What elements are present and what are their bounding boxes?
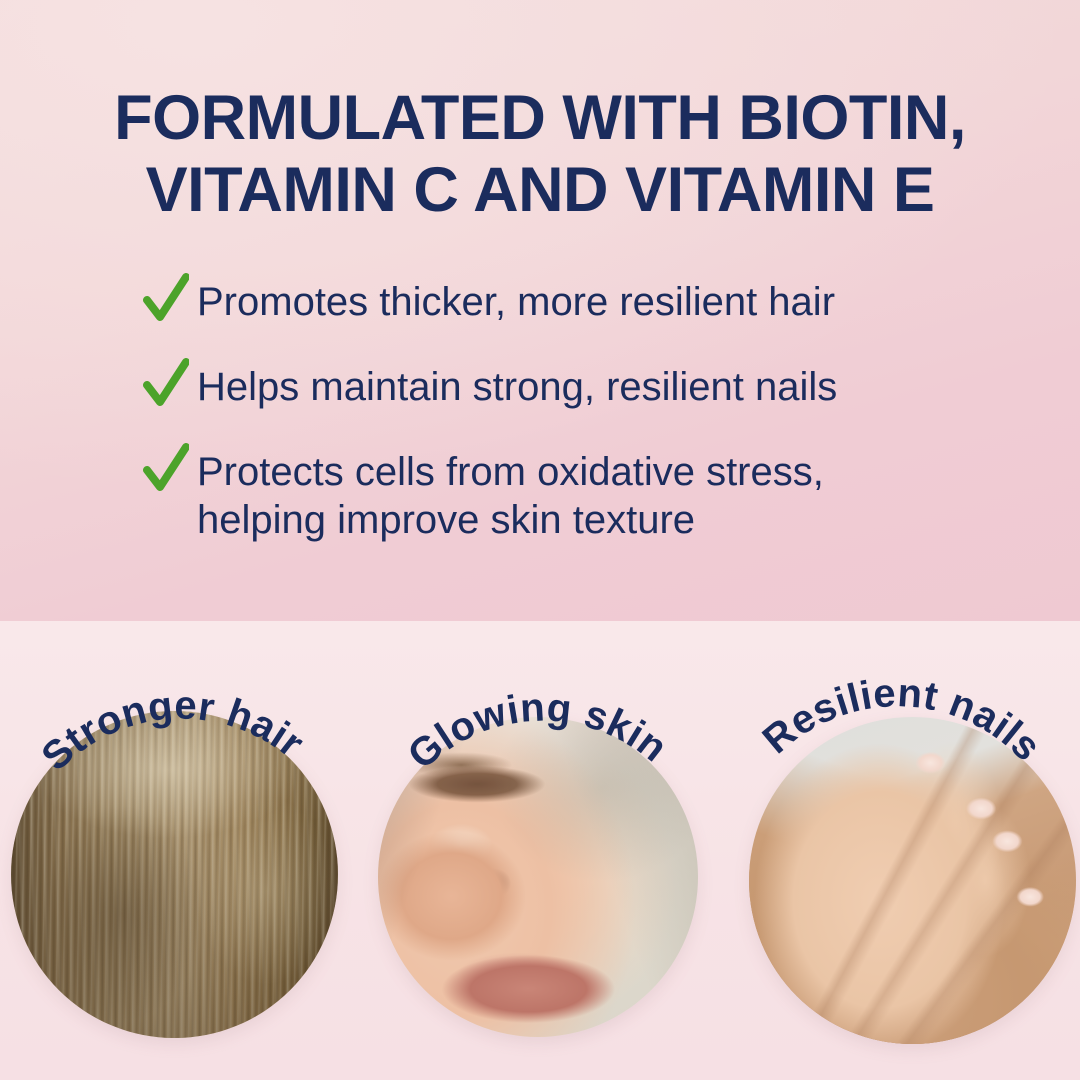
blonde-hair-closeup-photo	[11, 711, 338, 1038]
face-closeup-photo	[378, 717, 698, 1037]
list-item-label: Helps maintain strong, resilient nails	[197, 362, 837, 411]
list-item: Helps maintain strong, resilient nails	[143, 362, 1003, 411]
benefit-card-nails: Resilient nails	[720, 621, 1080, 1080]
list-item-label: Promotes thicker, more resilient hair	[197, 277, 835, 326]
hand-nails-closeup-photo	[749, 717, 1076, 1044]
benefit-card-hair: Stronger hair	[0, 621, 360, 1080]
benefit-photos-panel: Stronger hair Glowing skin	[0, 621, 1080, 1080]
list-item: Promotes thicker, more resilient hair	[143, 277, 1003, 326]
infographic-page: FORMULATED WITH BIOTIN, VITAMIN C AND VI…	[0, 0, 1080, 1080]
list-item: Protects cells from oxidative stress, he…	[143, 447, 1003, 543]
benefit-card-skin: Glowing skin	[360, 621, 720, 1080]
benefit-bullet-list: Promotes thicker, more resilient hair He…	[143, 277, 1003, 544]
list-item-label: Protects cells from oxidative stress, he…	[197, 447, 824, 543]
green-check-icon	[143, 358, 189, 410]
page-headline: FORMULATED WITH BIOTIN, VITAMIN C AND VI…	[0, 83, 1080, 227]
benefits-claims-panel: FORMULATED WITH BIOTIN, VITAMIN C AND VI…	[0, 0, 1080, 621]
green-check-icon	[143, 443, 189, 495]
green-check-icon	[143, 273, 189, 325]
